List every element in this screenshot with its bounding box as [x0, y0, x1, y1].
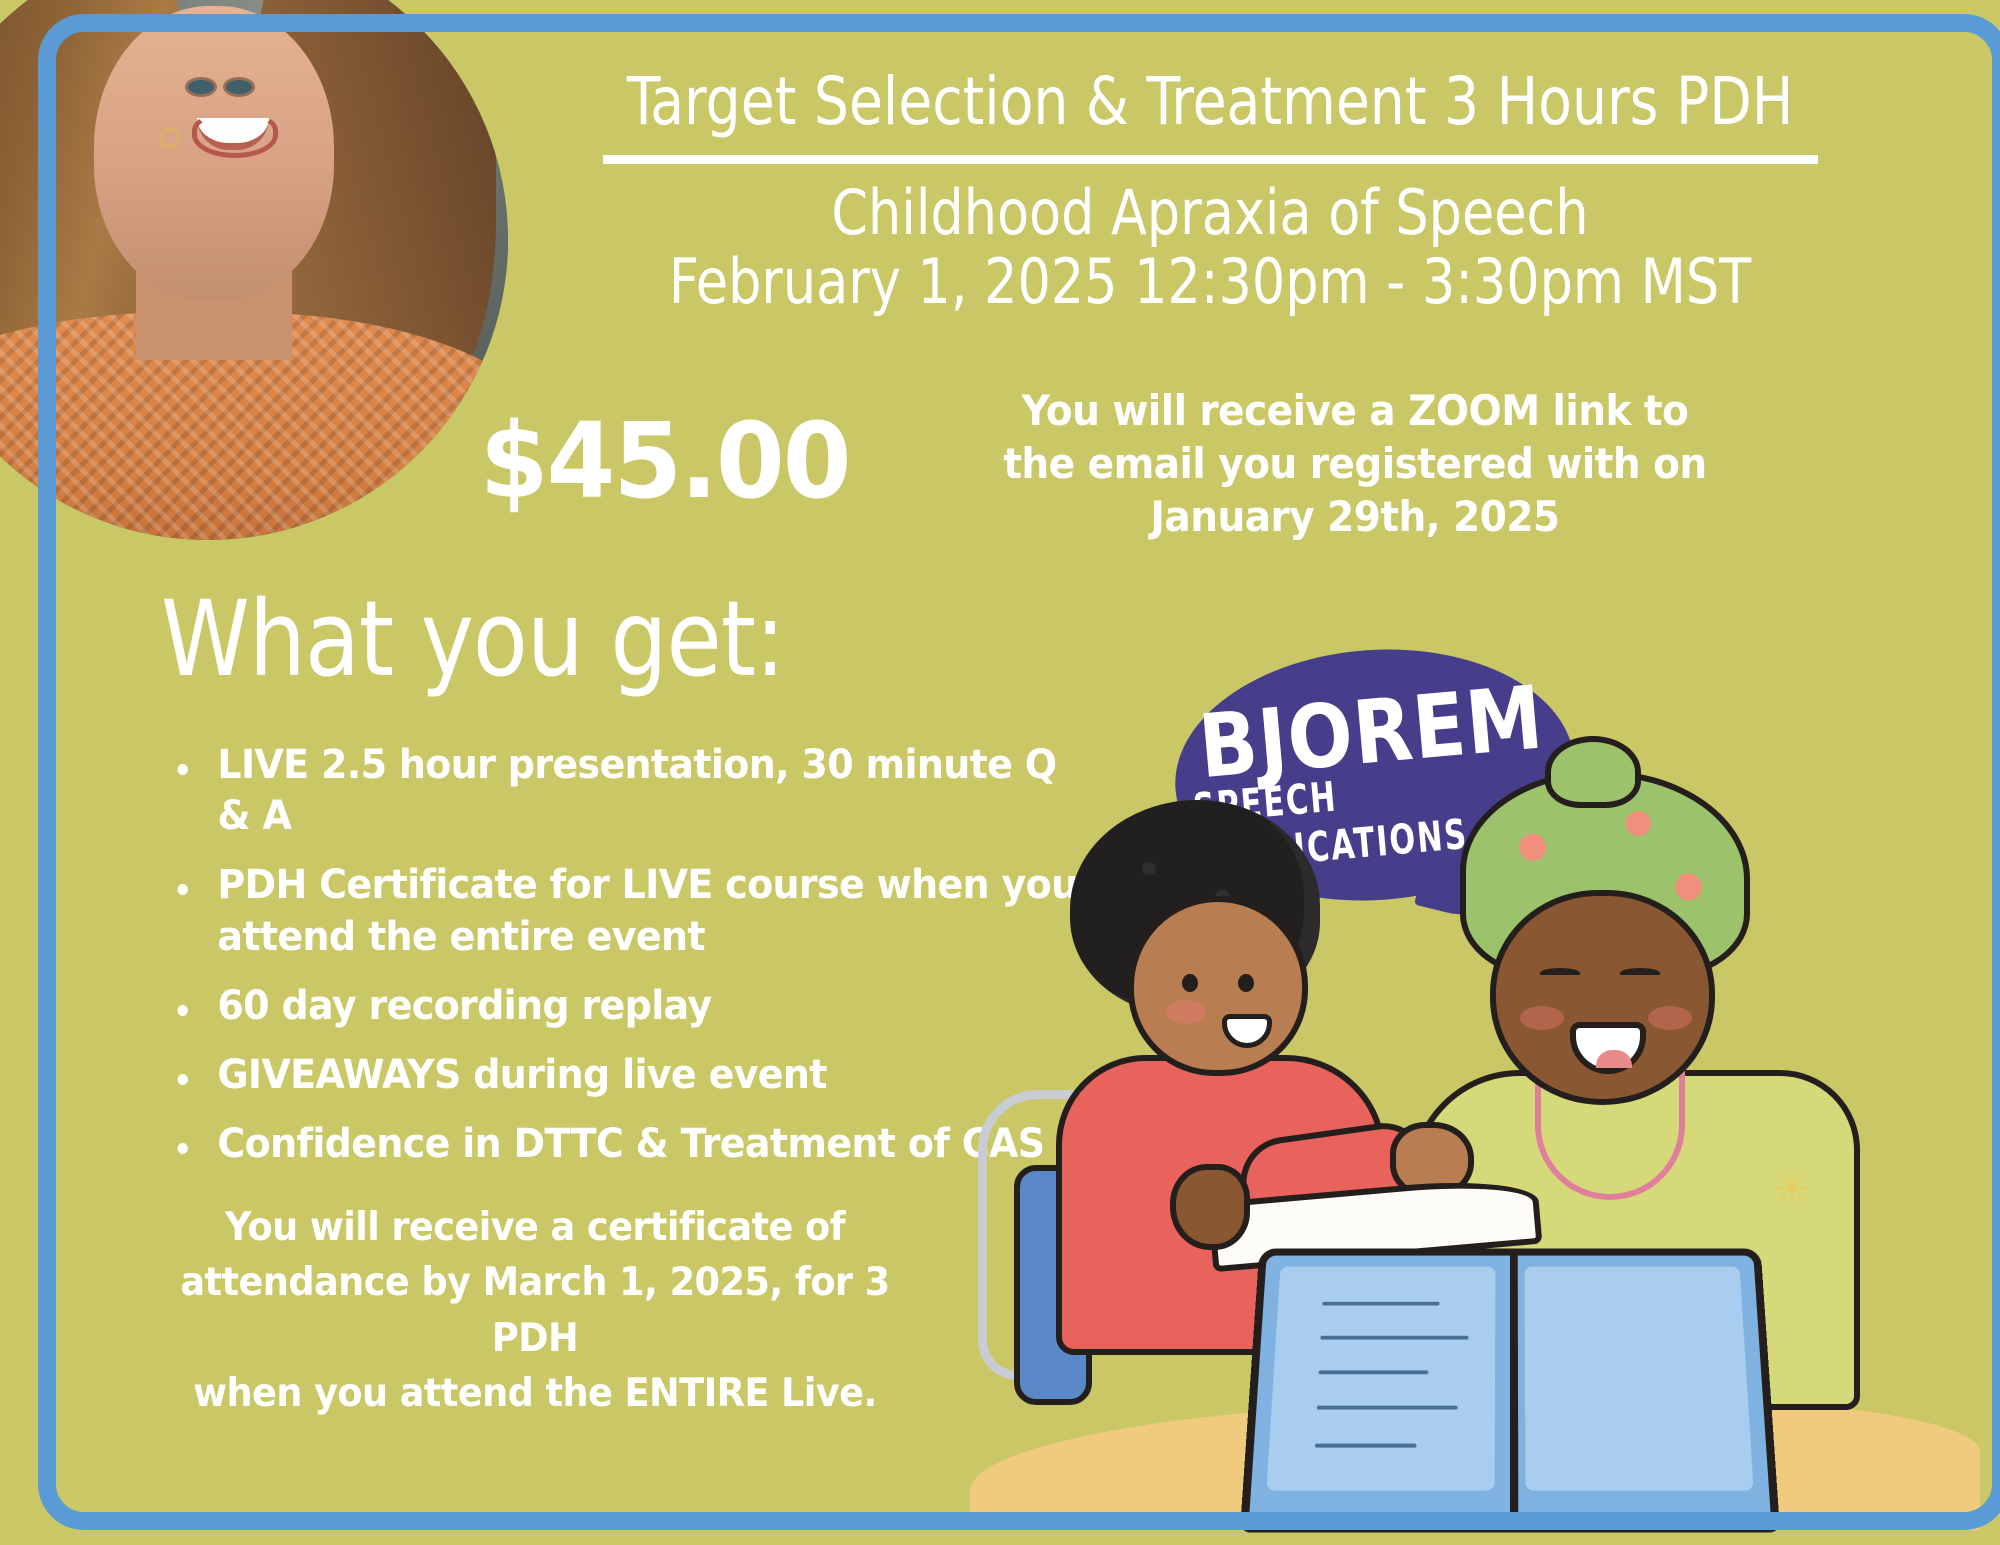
book-text-line [1317, 1406, 1458, 1410]
certificate-note-line-3: when you attend the ENTIRE Live. [164, 1366, 907, 1421]
child-mouth [1222, 1014, 1272, 1048]
adult-tongue [1596, 1050, 1632, 1068]
adult-eye-right [1620, 968, 1660, 978]
zoom-link-note: You will receive a ZOOM link to the emai… [969, 385, 1741, 544]
adult-eye-left [1540, 968, 1580, 978]
headshot-eye-left [188, 80, 214, 94]
certificate-note-line-1: You will receive a certificate of [164, 1200, 907, 1255]
adult-cheek-left [1520, 1006, 1564, 1030]
course-subtitle: Childhood Apraxia of Speech [599, 178, 1821, 247]
book-text-line [1323, 1302, 1441, 1306]
title-divider [603, 155, 1818, 164]
child-eye-right [1238, 974, 1254, 992]
certificate-note-line-2: attendance by March 1, 2025, for 3 PDH [164, 1255, 907, 1366]
zoom-note-line-2: the email you registered with on [969, 438, 1741, 491]
open-book [1240, 1248, 1780, 1532]
headshot-lips [192, 112, 278, 158]
adult-face [1490, 890, 1715, 1105]
adult-cheek-right [1648, 1006, 1692, 1030]
book-spine [1510, 1256, 1518, 1524]
book-text-line [1315, 1444, 1417, 1448]
book-page-right [1525, 1267, 1754, 1491]
book-text-line [1321, 1336, 1469, 1340]
page-title: Target Selection & Treatment 3 Hours PDH [606, 68, 1815, 137]
what-you-get-heading: What you get: [161, 578, 784, 700]
child-eye-left [1182, 974, 1198, 992]
headshot-face [94, 6, 334, 300]
child-face [1128, 896, 1308, 1076]
headshot-earring [159, 127, 181, 149]
headshot-eye-right [226, 80, 252, 94]
course-datetime: February 1, 2025 12:30pm - 3:30pm MST [599, 247, 1821, 316]
child-cheek [1166, 1000, 1206, 1024]
zoom-note-line-3: January 29th, 2025 [969, 491, 1741, 544]
zoom-note-line-1: You will receive a ZOOM link to [969, 385, 1741, 438]
book-page-left [1266, 1267, 1495, 1491]
header-text-block: Target Selection & Treatment 3 Hours PDH… [560, 68, 1860, 317]
book-text-line [1319, 1370, 1429, 1374]
head-wrap-knot [1545, 736, 1641, 808]
star-badge-icon: ✳ [1772, 1168, 1812, 1208]
price-label: $45.00 [480, 400, 850, 522]
poster-canvas: Target Selection & Treatment 3 Hours PDH… [0, 0, 2000, 1545]
presenter-headshot-avatar [0, 0, 508, 540]
adult-mouth [1570, 1022, 1646, 1074]
reading-illustration: ✳ [960, 770, 1980, 1530]
adult-hand [1170, 1164, 1250, 1250]
certificate-note: You will receive a certificate of attend… [164, 1200, 907, 1422]
